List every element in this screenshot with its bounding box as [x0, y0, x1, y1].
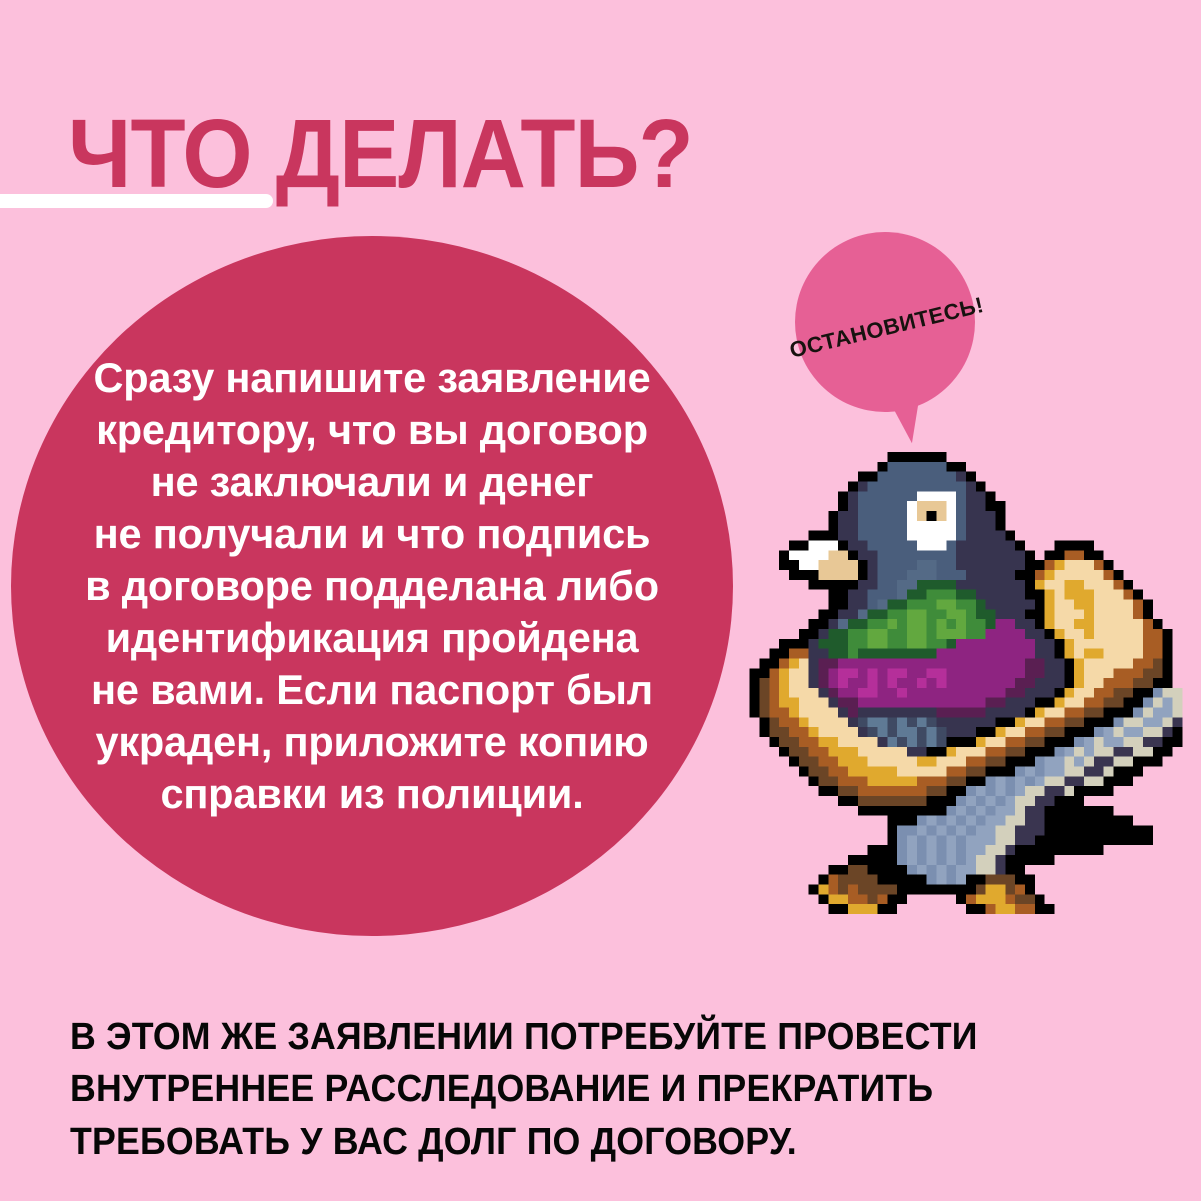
circle-line-5: в договоре подделана либо [85, 562, 659, 609]
circle-line-6: идентификация пройдена [106, 614, 639, 661]
circle-paragraph: Сразу напишите заявление кредитору, что … [85, 352, 659, 821]
circle-text-block: Сразу напишите заявление кредитору, что … [11, 236, 733, 936]
circle-line-1: Сразу напишите заявление [94, 354, 651, 401]
caption-line-3: ТРЕБОВАТЬ У ВАС ДОЛГ ПО ДОГОВОРУ. [70, 1116, 1066, 1168]
speech-bubble-label: ОСТАНОВИТЕСЬ! [795, 232, 975, 412]
page-title: ЧТО ДЕЛАТЬ? [68, 105, 693, 202]
circle-line-2: кредитору, что вы договор [96, 406, 648, 453]
circle-line-4: не получали и что подпись [94, 510, 651, 557]
circle-line-7: не вами. Если паспорт был [91, 666, 653, 713]
pixel-pigeon-icon [748, 452, 1184, 914]
speech-bubble-text: ОСТАНОВИТЕСЬ! [787, 292, 986, 364]
infographic-poster: ЧТО ДЕЛАТЬ? Сразу напишите заявление кре… [0, 0, 1201, 1201]
caption-line-1: В ЭТОМ ЖЕ ЗАЯВЛЕНИИ ПОТРЕБУЙТЕ ПРОВЕСТИ [70, 1011, 1066, 1063]
speech-bubble: ОСТАНОВИТЕСЬ! [795, 232, 975, 412]
title-underline-rule [0, 194, 273, 208]
circle-line-3: не заключали и денег [151, 458, 594, 505]
circle-line-9: справки из полиции. [160, 770, 583, 817]
caption-block: В ЭТОМ ЖЕ ЗАЯВЛЕНИИ ПОТРЕБУЙТЕ ПРОВЕСТИ … [70, 1011, 1130, 1168]
circle-line-8: украден, приложите копию [95, 718, 648, 765]
caption-line-2: ВНУТРЕННЕЕ РАССЛЕДОВАНИЕ И ПРЕКРАТИТЬ [70, 1063, 1066, 1115]
